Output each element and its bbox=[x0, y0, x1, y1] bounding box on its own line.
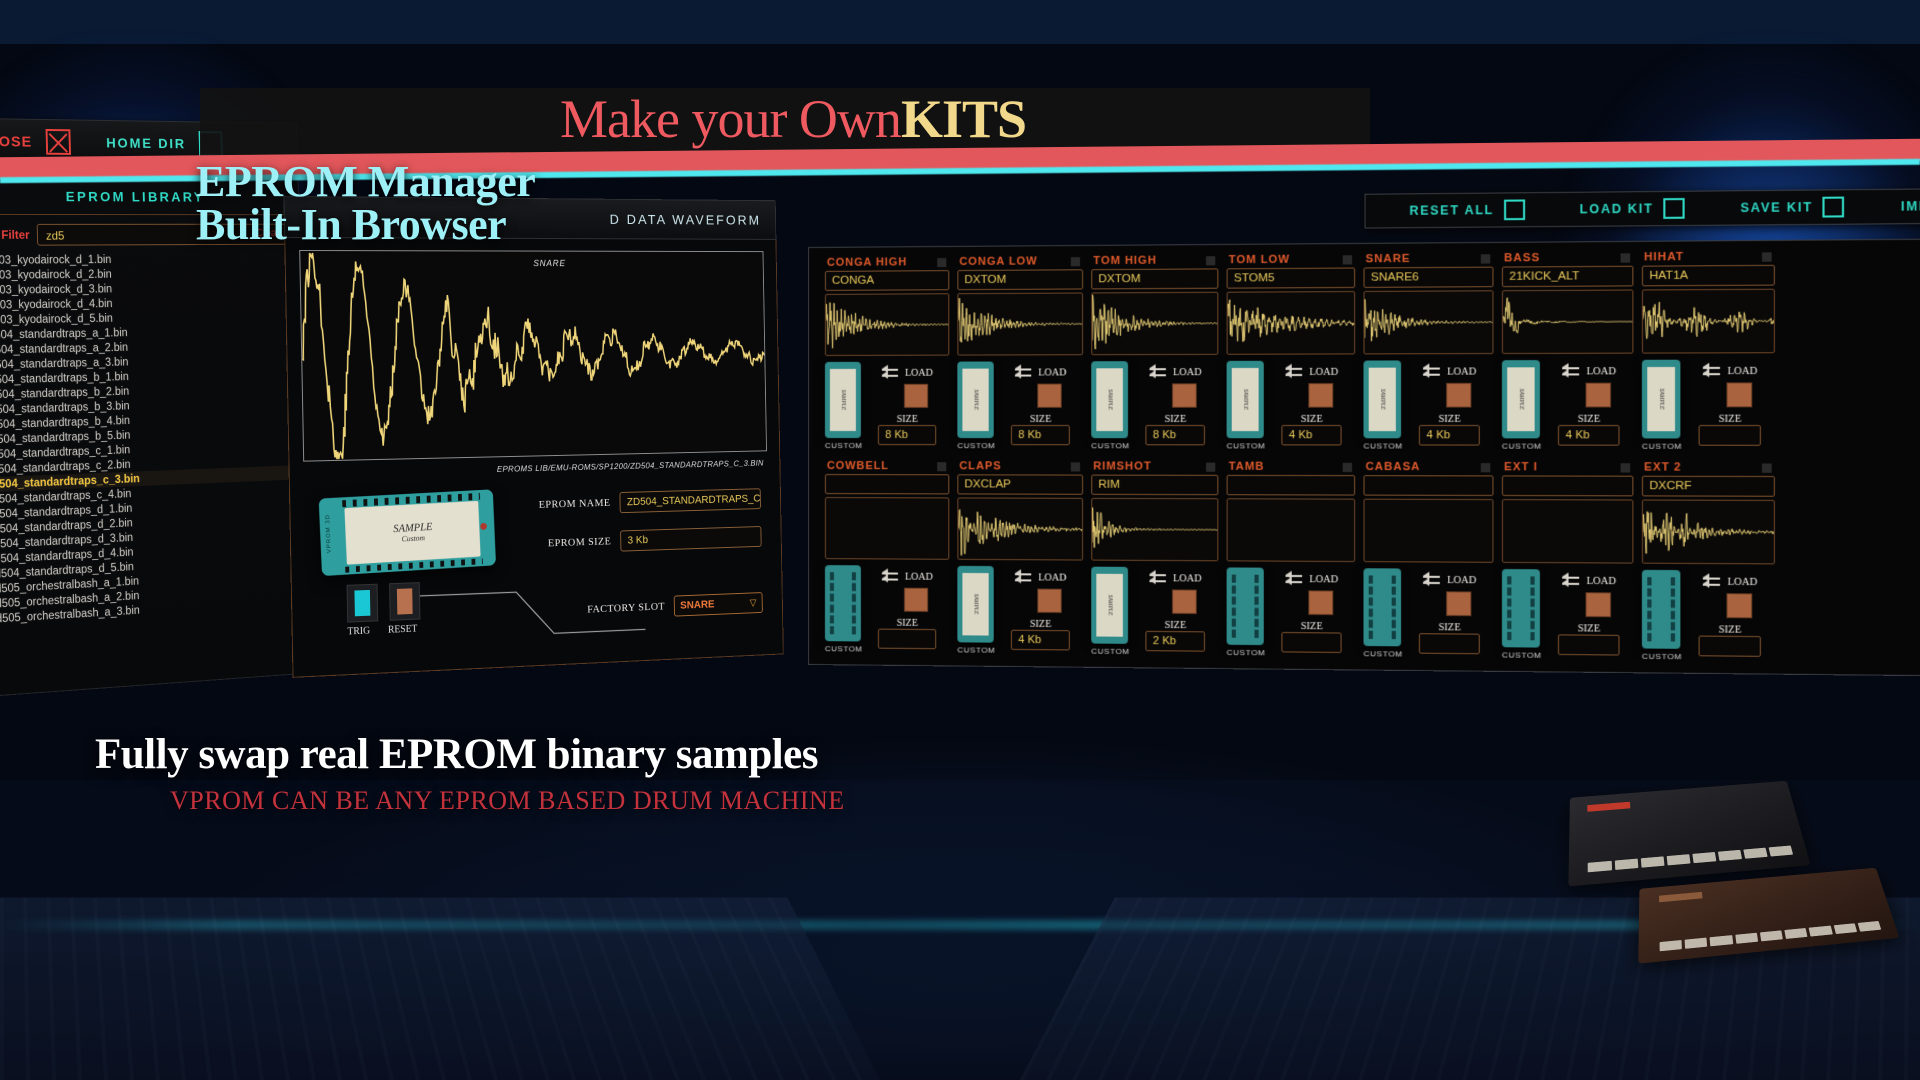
size-value[interactable]: 8 Kb bbox=[1011, 425, 1070, 445]
transfer-arrows-icon bbox=[882, 364, 900, 382]
size-label: SIZE bbox=[1438, 622, 1460, 633]
trig-button[interactable] bbox=[347, 584, 379, 623]
channel-header: CONGA LOW bbox=[957, 252, 1083, 270]
kit-channel: HIHATHAT1ASAMPLECUSTOMLOADSIZE bbox=[1638, 247, 1780, 458]
size-label: SIZE bbox=[1578, 623, 1600, 635]
subtitle: EPROM Manager Built-In Browser bbox=[196, 160, 535, 246]
size-value[interactable]: 4 Kb bbox=[1282, 425, 1342, 445]
load-label: LOAD bbox=[1447, 366, 1476, 377]
channel-led-icon[interactable] bbox=[1071, 257, 1080, 266]
socket-caption: CUSTOM bbox=[1227, 648, 1266, 658]
channel-controls: SAMPLECUSTOMLOADSIZE4 Kb bbox=[1363, 360, 1493, 451]
load-label: LOAD bbox=[1309, 574, 1338, 585]
close-label: CLOSE bbox=[0, 132, 32, 150]
channel-sample-name[interactable]: CONGA bbox=[825, 270, 949, 291]
toolbar-checkbox[interactable] bbox=[1663, 198, 1684, 219]
kit-channel-grid: CONGA HIGHCONGASAMPLECUSTOMLOADSIZE8 KbC… bbox=[808, 238, 1920, 677]
load-label: LOAD bbox=[1173, 367, 1202, 378]
size-label: SIZE bbox=[1578, 414, 1600, 425]
channel-waveform bbox=[1642, 289, 1775, 354]
size-label: SIZE bbox=[1030, 414, 1051, 425]
size-label: SIZE bbox=[1165, 620, 1187, 631]
load-button[interactable] bbox=[1038, 384, 1062, 408]
eprom-chip-socket-filled[interactable]: SAMPLE bbox=[1363, 360, 1401, 438]
kit-channel: CONGA LOWDXTOMSAMPLECUSTOMLOADSIZE8 Kb bbox=[953, 252, 1087, 457]
channel-name: CONGA LOW bbox=[959, 255, 1037, 268]
channel-sample-name[interactable]: DXCLAP bbox=[957, 474, 1083, 494]
chip-and-fields-area: VPROM 3D SAMPLE Custom TRIG RESET EPROM … bbox=[304, 481, 771, 663]
socket-caption: CUSTOM bbox=[1642, 652, 1682, 662]
channel-name: TOM LOW bbox=[1229, 254, 1290, 267]
channel-waveform bbox=[1091, 292, 1218, 355]
channel-name: CLAPS bbox=[959, 460, 1001, 472]
channel-sample-name[interactable]: DXCRF bbox=[1642, 476, 1775, 497]
socket-caption: CUSTOM bbox=[1091, 441, 1129, 450]
kit-toolbar: RESET ALLLOAD KITSAVE KITIMPORT v2 bbox=[1364, 187, 1920, 228]
size-value[interactable] bbox=[1699, 636, 1761, 657]
socket-caption: CUSTOM bbox=[957, 645, 995, 654]
size-label: SIZE bbox=[1719, 414, 1742, 425]
channel-led-icon[interactable] bbox=[1481, 254, 1490, 263]
channel-name: TOM HIGH bbox=[1093, 255, 1156, 268]
eprom-size-row: EPROM SIZE 3 Kb bbox=[548, 526, 762, 554]
eprom-chip-socket-empty[interactable] bbox=[1502, 569, 1540, 648]
size-label: SIZE bbox=[1719, 624, 1742, 636]
toolbar-item-import-v2[interactable]: IMPORT v2 bbox=[1873, 198, 1920, 214]
trig-label: TRIG bbox=[347, 626, 370, 638]
chevron-down-icon: ▽ bbox=[750, 598, 757, 609]
channel-sample-name[interactable] bbox=[1502, 475, 1633, 496]
eprom-size-input[interactable]: 3 Kb bbox=[620, 526, 762, 552]
transfer-arrows-icon bbox=[1285, 570, 1304, 588]
size-label: SIZE bbox=[1301, 621, 1323, 632]
kit-channel: EXT 2DXCRFCUSTOMLOADSIZE bbox=[1638, 458, 1780, 669]
eprom-chip-socket-filled[interactable]: SAMPLE bbox=[1091, 567, 1128, 644]
channel-header: CONGA HIGH bbox=[825, 253, 949, 271]
waveform-plot: SNARE bbox=[299, 250, 767, 462]
load-button[interactable] bbox=[1586, 383, 1612, 408]
channel-header: RIMSHOT bbox=[1091, 457, 1218, 474]
channel-waveform bbox=[825, 497, 949, 560]
channel-waveform bbox=[825, 293, 949, 356]
size-value[interactable]: 8 Kb bbox=[878, 425, 936, 445]
toolbar-item-reset-all[interactable]: RESET ALL bbox=[1382, 199, 1552, 221]
channel-sample-name[interactable]: RIM bbox=[1091, 475, 1218, 496]
transfer-arrows-icon bbox=[1562, 362, 1581, 381]
channel-controls: SAMPLECUSTOMLOADSIZE4 Kb bbox=[957, 566, 1083, 656]
load-button[interactable] bbox=[1446, 591, 1471, 616]
channel-sample-name[interactable] bbox=[1363, 475, 1493, 496]
load-button[interactable] bbox=[904, 384, 928, 408]
transfer-arrows-icon bbox=[1149, 363, 1167, 381]
toolbar-checkbox[interactable] bbox=[1823, 197, 1845, 218]
load-label: LOAD bbox=[1038, 572, 1066, 583]
transfer-arrows-icon bbox=[1562, 571, 1581, 590]
channel-waveform bbox=[1502, 499, 1633, 564]
toolbar-checkbox[interactable] bbox=[1504, 199, 1525, 220]
socket-caption: CUSTOM bbox=[1642, 442, 1682, 451]
kit-channel: CONGA HIGHCONGASAMPLECUSTOMLOADSIZE8 Kb bbox=[821, 253, 953, 457]
load-label: LOAD bbox=[1173, 573, 1202, 584]
load-button[interactable] bbox=[1446, 383, 1471, 408]
channel-name: CABASA bbox=[1366, 461, 1421, 473]
factory-slot-select[interactable]: SNARE ▽ bbox=[674, 592, 763, 617]
kit-channel: EXT ICUSTOMLOADSIZE bbox=[1498, 458, 1638, 668]
toolbar-item-label: SAVE KIT bbox=[1740, 200, 1813, 215]
transfer-arrows-icon bbox=[1423, 362, 1442, 381]
eprom-size-label: EPROM SIZE bbox=[548, 536, 611, 550]
top-letterbox-bar bbox=[0, 0, 1920, 44]
kit-channel: TAMBCUSTOMLOADSIZE bbox=[1222, 458, 1359, 666]
subtitle-line-1: EPROM Manager bbox=[196, 160, 535, 203]
socket-caption: CUSTOM bbox=[1363, 649, 1402, 659]
load-label: LOAD bbox=[905, 367, 933, 378]
channel-led-icon[interactable] bbox=[937, 462, 946, 471]
footer-subtitle: VPROM CAN BE ANY EPROM BASED DRUM MACHIN… bbox=[170, 786, 845, 816]
channel-controls: SAMPLECUSTOMLOADSIZE8 Kb bbox=[1091, 361, 1218, 451]
channel-header: TOM LOW bbox=[1227, 250, 1356, 268]
channel-controls: SAMPLECUSTOMLOADSIZE8 Kb bbox=[957, 361, 1083, 450]
channel-sample-name[interactable] bbox=[825, 474, 949, 494]
load-button[interactable] bbox=[1172, 589, 1197, 614]
channel-led-icon[interactable] bbox=[1762, 463, 1772, 472]
channel-header: TAMB bbox=[1227, 458, 1356, 476]
channel-waveform bbox=[957, 497, 1083, 560]
channel-waveform bbox=[1227, 291, 1356, 355]
toolbar-item-label: IMPORT v2 bbox=[1901, 198, 1920, 213]
channel-name: EXT I bbox=[1504, 461, 1538, 473]
footer-title: Fully swap real EPROM binary samples bbox=[95, 730, 818, 779]
load-button[interactable] bbox=[1727, 382, 1753, 407]
kit-channel: BASS21KICK_ALTSAMPLECUSTOMLOADSIZE4 Kb bbox=[1498, 248, 1638, 458]
size-value[interactable] bbox=[1699, 425, 1761, 446]
load-button[interactable] bbox=[1309, 590, 1334, 615]
chip-indicator-dot bbox=[480, 523, 487, 530]
channel-led-icon[interactable] bbox=[1206, 256, 1215, 265]
channel-sample-name[interactable] bbox=[1227, 475, 1356, 496]
close-icon[interactable] bbox=[45, 129, 70, 155]
waveform-trace bbox=[300, 251, 766, 462]
channel-sample-name[interactable]: HAT1A bbox=[1642, 265, 1775, 287]
kit-channel: CLAPSDXCLAPSAMPLECUSTOMLOADSIZE4 Kb bbox=[953, 457, 1087, 663]
size-value[interactable]: 4 Kb bbox=[1011, 630, 1070, 651]
subtitle-line-2: Built-In Browser bbox=[196, 203, 535, 246]
waveform-body: SNARE EPROMS LIB/EMU-ROMS/SP1200/ZD504_S… bbox=[284, 238, 783, 678]
size-value[interactable]: 2 Kb bbox=[1146, 631, 1206, 652]
left-mixer-hardware bbox=[0, 898, 880, 1080]
size-label: SIZE bbox=[1165, 414, 1187, 425]
channel-sample-name[interactable]: DXTOM bbox=[1091, 268, 1218, 289]
load-label: LOAD bbox=[1038, 367, 1066, 378]
socket-caption: CUSTOM bbox=[957, 441, 995, 450]
channel-controls: SAMPLECUSTOMLOADSIZE bbox=[1642, 359, 1775, 451]
channel-waveform bbox=[1502, 289, 1633, 354]
eprom-name-row: EPROM NAME ZD504_STANDARDTRAPS_C_3 bbox=[539, 488, 761, 515]
channel-led-icon[interactable] bbox=[937, 258, 946, 267]
toolbar-item-label: RESET ALL bbox=[1409, 203, 1494, 218]
channel-name: CONGA HIGH bbox=[827, 256, 907, 269]
channel-header: CLAPS bbox=[957, 457, 1083, 474]
chip-label-secondary: Custom bbox=[401, 533, 425, 543]
channel-waveform bbox=[1227, 498, 1356, 562]
channel-waveform bbox=[1363, 290, 1493, 354]
channel-controls: CUSTOMLOADSIZE bbox=[825, 565, 949, 654]
channel-controls: SAMPLECUSTOMLOADSIZE4 Kb bbox=[1502, 360, 1633, 451]
reset-button[interactable] bbox=[389, 582, 420, 621]
socket-caption: CUSTOM bbox=[1363, 441, 1402, 450]
eprom-chip-illustration: VPROM 3D SAMPLE Custom bbox=[319, 489, 496, 576]
channel-controls: CUSTOMLOADSIZE bbox=[1642, 570, 1775, 662]
headline-part-a: Make your Own bbox=[560, 89, 901, 149]
kit-channel: COWBELLCUSTOMLOADSIZE bbox=[821, 457, 953, 661]
eprom-chip-socket-filled[interactable]: SAMPLE bbox=[1091, 361, 1128, 438]
transfer-arrows-icon bbox=[1423, 571, 1442, 590]
channel-waveform bbox=[1642, 500, 1775, 565]
size-label: SIZE bbox=[1030, 619, 1051, 630]
channel-waveform bbox=[1363, 499, 1493, 563]
channel-led-icon[interactable] bbox=[1071, 462, 1080, 471]
eprom-chip-socket-filled[interactable]: SAMPLE bbox=[1502, 360, 1540, 438]
channel-led-icon[interactable] bbox=[1343, 255, 1352, 264]
socket-caption: CUSTOM bbox=[1502, 441, 1542, 450]
toolbar-item-save-kit[interactable]: SAVE KIT bbox=[1713, 196, 1873, 218]
channel-led-icon[interactable] bbox=[1343, 462, 1352, 471]
eprom-name-input[interactable]: ZD504_STANDARDTRAPS_C_3 bbox=[619, 488, 761, 513]
channel-controls: CUSTOMLOADSIZE bbox=[1363, 568, 1493, 659]
channel-led-icon[interactable] bbox=[1621, 463, 1631, 472]
size-value[interactable]: 8 Kb bbox=[1146, 425, 1206, 445]
load-button[interactable] bbox=[1727, 593, 1753, 618]
kit-channel: TOM LOWSTOM5SAMPLECUSTOMLOADSIZE4 Kb bbox=[1222, 250, 1359, 458]
size-label: SIZE bbox=[897, 618, 918, 629]
load-label: LOAD bbox=[1727, 576, 1757, 588]
socket-caption: CUSTOM bbox=[825, 441, 862, 450]
socket-caption: CUSTOM bbox=[1502, 650, 1542, 660]
load-button[interactable] bbox=[1038, 589, 1062, 613]
channel-led-icon[interactable] bbox=[1762, 252, 1772, 261]
eprom-chip-socket-empty[interactable] bbox=[1363, 568, 1401, 646]
kit-panel: RESET ALLLOAD KITSAVE KITIMPORT v2 CONGA… bbox=[808, 173, 1920, 677]
transfer-arrows-icon bbox=[1703, 362, 1722, 381]
channel-sample-name[interactable]: 21KICK_ALT bbox=[1502, 266, 1633, 287]
kit-channel: TOM HIGHDXTOMSAMPLECUSTOMLOADSIZE8 Kb bbox=[1087, 251, 1222, 458]
waveform-header-label: D DATA WAVEFORM bbox=[610, 211, 762, 227]
channel-header: TOM HIGH bbox=[1091, 251, 1218, 269]
transfer-arrows-icon bbox=[1015, 363, 1033, 381]
factory-slot-label: FACTORY SLOT bbox=[587, 601, 665, 616]
kit-channel: RIMSHOTRIMSAMPLECUSTOMLOADSIZE2 Kb bbox=[1087, 457, 1222, 664]
transfer-arrows-icon bbox=[1285, 363, 1304, 381]
size-label: SIZE bbox=[1438, 414, 1460, 425]
eprom-chip-socket-filled[interactable]: SAMPLE bbox=[957, 566, 993, 643]
channel-name: BASS bbox=[1504, 252, 1540, 265]
channel-controls: SAMPLECUSTOMLOADSIZE4 Kb bbox=[1227, 361, 1356, 451]
channel-name: RIMSHOT bbox=[1093, 460, 1151, 472]
channel-led-icon[interactable] bbox=[1481, 463, 1490, 472]
channel-header: EXT 2 bbox=[1642, 458, 1775, 476]
factory-slot-value: SNARE bbox=[680, 599, 715, 612]
size-value[interactable] bbox=[1282, 632, 1342, 653]
size-value[interactable]: 4 Kb bbox=[1419, 425, 1480, 446]
channel-controls: SAMPLECUSTOMLOADSIZE8 Kb bbox=[825, 362, 949, 451]
channel-waveform bbox=[957, 292, 1083, 355]
eprom-chip-socket-filled[interactable]: SAMPLE bbox=[1227, 361, 1264, 438]
eprom-file-list[interactable]: zd503_kyodairock_d_1.binzd503_kyodairock… bbox=[0, 251, 298, 627]
size-value[interactable]: 4 Kb bbox=[1558, 425, 1620, 446]
load-button[interactable] bbox=[1586, 592, 1612, 617]
load-button[interactable] bbox=[904, 588, 928, 612]
kit-toolbar-area: RESET ALLLOAD KITSAVE KITIMPORT v2 bbox=[808, 173, 1920, 247]
toolbar-item-label: LOAD KIT bbox=[1580, 201, 1654, 216]
eprom-chip-socket-empty[interactable] bbox=[1642, 570, 1680, 649]
load-label: LOAD bbox=[1309, 366, 1338, 377]
transfer-arrows-icon bbox=[882, 567, 900, 585]
channel-header: HIHAT bbox=[1642, 247, 1775, 266]
load-button[interactable] bbox=[1309, 383, 1334, 408]
reset-label: RESET bbox=[388, 624, 417, 636]
channel-header: EXT I bbox=[1502, 458, 1633, 476]
toolbar-item-load-kit[interactable]: LOAD KIT bbox=[1552, 198, 1712, 220]
channel-name: EXT 2 bbox=[1644, 461, 1681, 473]
load-label: LOAD bbox=[1727, 365, 1757, 376]
channel-name: COWBELL bbox=[827, 460, 889, 472]
load-label: LOAD bbox=[1586, 366, 1616, 377]
load-label: LOAD bbox=[905, 571, 933, 582]
channel-header: BASS bbox=[1502, 248, 1633, 266]
eprom-name-label: EPROM NAME bbox=[539, 497, 611, 511]
headline: Make your OwnKITS bbox=[560, 92, 1026, 146]
chip-side-text: VPROM 3D bbox=[325, 514, 333, 553]
eprom-chip-socket-filled[interactable]: SAMPLE bbox=[825, 362, 861, 438]
eprom-waveform-window: D DATA WAVEFORM SNARE EPROMS LIB/EMU-ROM… bbox=[283, 196, 783, 678]
headline-part-b: KITS bbox=[901, 89, 1026, 149]
kit-channel-row: COWBELLCUSTOMLOADSIZECLAPSDXCLAPSAMPLECU… bbox=[821, 457, 1920, 672]
socket-caption: CUSTOM bbox=[825, 644, 862, 653]
channel-sample-name[interactable]: SNARE6 bbox=[1363, 267, 1493, 288]
load-button[interactable] bbox=[1172, 383, 1197, 407]
channel-sample-name[interactable]: STOM5 bbox=[1227, 267, 1356, 288]
eprom-chip-socket-filled[interactable]: SAMPLE bbox=[1642, 360, 1680, 439]
channel-led-icon[interactable] bbox=[1621, 253, 1631, 262]
load-label: LOAD bbox=[1586, 575, 1616, 587]
channel-header: SNARE bbox=[1363, 249, 1493, 267]
eprom-chip-socket-empty[interactable] bbox=[1227, 567, 1264, 645]
kit-channel-row: CONGA HIGHCONGASAMPLECUSTOMLOADSIZE8 KbC… bbox=[821, 245, 1920, 458]
channel-name: HIHAT bbox=[1644, 251, 1684, 264]
socket-caption: CUSTOM bbox=[1227, 441, 1266, 450]
home-dir-label: HOME DIR bbox=[106, 135, 186, 152]
size-label: SIZE bbox=[897, 414, 918, 425]
size-value[interactable] bbox=[878, 629, 936, 650]
transfer-arrows-icon bbox=[1015, 568, 1033, 586]
transfer-arrows-icon bbox=[1149, 569, 1167, 587]
channel-controls: CUSTOMLOADSIZE bbox=[1227, 567, 1356, 658]
channel-controls: SAMPLECUSTOMLOADSIZE2 Kb bbox=[1091, 567, 1218, 657]
size-value[interactable] bbox=[1419, 633, 1480, 654]
filter-label: Filter bbox=[1, 228, 30, 242]
load-label: LOAD bbox=[1447, 574, 1476, 585]
transfer-arrows-icon bbox=[1703, 572, 1722, 591]
channel-waveform bbox=[1091, 498, 1218, 561]
size-label: SIZE bbox=[1301, 414, 1323, 425]
size-value[interactable] bbox=[1558, 634, 1620, 655]
socket-caption: CUSTOM bbox=[1091, 647, 1129, 656]
channel-controls: CUSTOMLOADSIZE bbox=[1502, 569, 1633, 661]
channel-header: CABASA bbox=[1363, 458, 1493, 476]
kit-channel: SNARESNARE6SAMPLECUSTOMLOADSIZE4 Kb bbox=[1359, 249, 1497, 458]
channel-name: TAMB bbox=[1229, 461, 1265, 473]
channel-header: COWBELL bbox=[825, 457, 949, 474]
channel-name: SNARE bbox=[1366, 253, 1411, 266]
channel-sample-name[interactable]: DXTOM bbox=[957, 269, 1083, 290]
kit-channel: CABASACUSTOMLOADSIZE bbox=[1359, 458, 1497, 667]
eprom-chip-socket-filled[interactable]: SAMPLE bbox=[957, 362, 993, 439]
eprom-chip-socket-empty[interactable] bbox=[825, 565, 861, 641]
channel-led-icon[interactable] bbox=[1206, 462, 1215, 471]
